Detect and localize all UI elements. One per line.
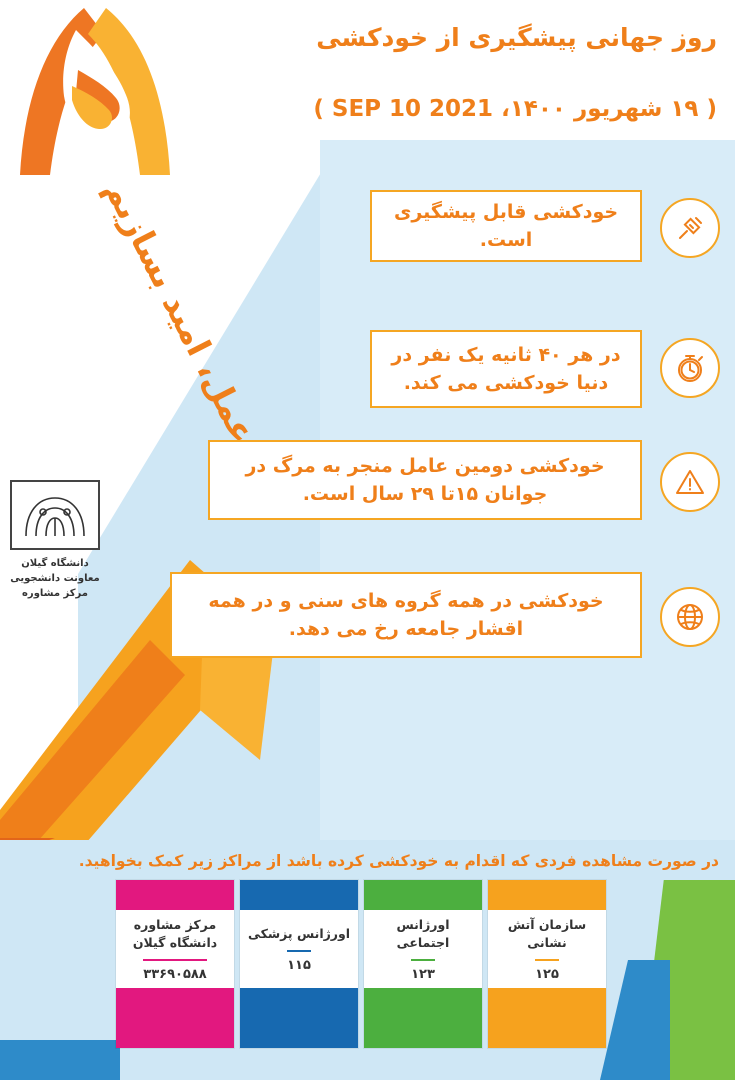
message-text-2: در هر ۴۰ ثانیه یک نفر در دنیا خودکشی می … (382, 341, 630, 398)
contact-card-medical-emergency: اورژانس پزشکی ۱۱۵ (240, 880, 358, 1048)
message-card-2: در هر ۴۰ ثانیه یک نفر در دنیا خودکشی می … (370, 330, 642, 408)
warning-icon (660, 452, 720, 512)
bottom-note: در صورت مشاهده فردی که اقدام به خودکشی ک… (19, 852, 719, 870)
stopwatch-icon-svg (673, 351, 707, 385)
university-line-3: مرکز مشاوره (0, 586, 110, 601)
card-name-1: سازمان آتش نشانی (488, 916, 606, 952)
message-card-3: خودکشی دومین عامل منجر به مرگ در جوانان … (208, 440, 642, 520)
card-body-3: اورژانس پزشکی ۱۱۵ (240, 910, 358, 988)
card-number-3: ۱۱۵ (287, 950, 311, 973)
syringe-icon-svg (674, 212, 706, 244)
card-number-2: ۱۲۳ (411, 959, 435, 982)
globe-icon (660, 587, 720, 647)
message-card-1: خودکشی قابل پیشگیری است. (370, 190, 642, 262)
card-name-3: اورژانس پزشکی (244, 925, 354, 943)
card-foot-3 (240, 988, 358, 1048)
card-number-1: ۱۲۵ (535, 959, 559, 982)
warning-icon-svg (673, 465, 707, 499)
card-name-2: اورژانس اجتماعی (364, 916, 482, 952)
message-text-1: خودکشی قابل پیشگیری است. (382, 198, 630, 255)
card-foot-1 (488, 988, 606, 1048)
page-subtitle: ( ۱۹ شهریور ۱۴۰۰، 2021 SEP 10 ) (287, 95, 717, 124)
message-text-4: خودکشی در همه گروه های سنی و در همه اقشا… (182, 587, 630, 644)
blue-strip-decoration (0, 1040, 120, 1080)
card-body-2: اورژانس اجتماعی ۱۲۳ (364, 910, 482, 988)
university-line-1: دانشگاه گیلان (0, 556, 110, 571)
ribbon-svg (6, 0, 196, 200)
university-logo-svg (12, 482, 98, 548)
university-logo (10, 480, 100, 550)
card-body-1: سازمان آتش نشانی ۱۲۵ (488, 910, 606, 988)
university-caption: دانشگاه گیلان معاونت دانشجویی مرکز مشاور… (0, 556, 110, 601)
globe-icon-svg (673, 600, 707, 634)
card-cap-4 (116, 880, 234, 910)
contact-card-social-emergency: اورژانس اجتماعی ۱۲۳ (364, 880, 482, 1048)
contact-card-counseling-center: مرکز مشاوره دانشگاه گیلان ۳۳۶۹۰۵۸۸ (116, 880, 234, 1048)
university-line-2: معاونت دانشجویی (0, 571, 110, 586)
message-text-3: خودکشی دومین عامل منجر به مرگ در جوانان … (220, 452, 630, 509)
awareness-ribbon-illustration (6, 0, 196, 200)
card-foot-4 (116, 988, 234, 1048)
message-card-4: خودکشی در همه گروه های سنی و در همه اقشا… (170, 572, 642, 658)
stopwatch-icon (660, 338, 720, 398)
card-cap-3 (240, 880, 358, 910)
card-body-4: مرکز مشاوره دانشگاه گیلان ۳۳۶۹۰۵۸۸ (116, 910, 234, 988)
syringe-icon (660, 198, 720, 258)
card-foot-2 (364, 988, 482, 1048)
card-number-4: ۳۳۶۹۰۵۸۸ (143, 959, 206, 982)
poster-root: روز جهانی پیشگیری از خودکشی ( ۱۹ شهریور … (0, 0, 735, 1080)
card-cap-1 (488, 880, 606, 910)
card-cap-2 (364, 880, 482, 910)
contact-card-firefighters: سازمان آتش نشانی ۱۲۵ (488, 880, 606, 1048)
page-title: روز جهانی پیشگیری از خودکشی (287, 22, 717, 53)
card-name-4: مرکز مشاوره دانشگاه گیلان (116, 916, 234, 952)
